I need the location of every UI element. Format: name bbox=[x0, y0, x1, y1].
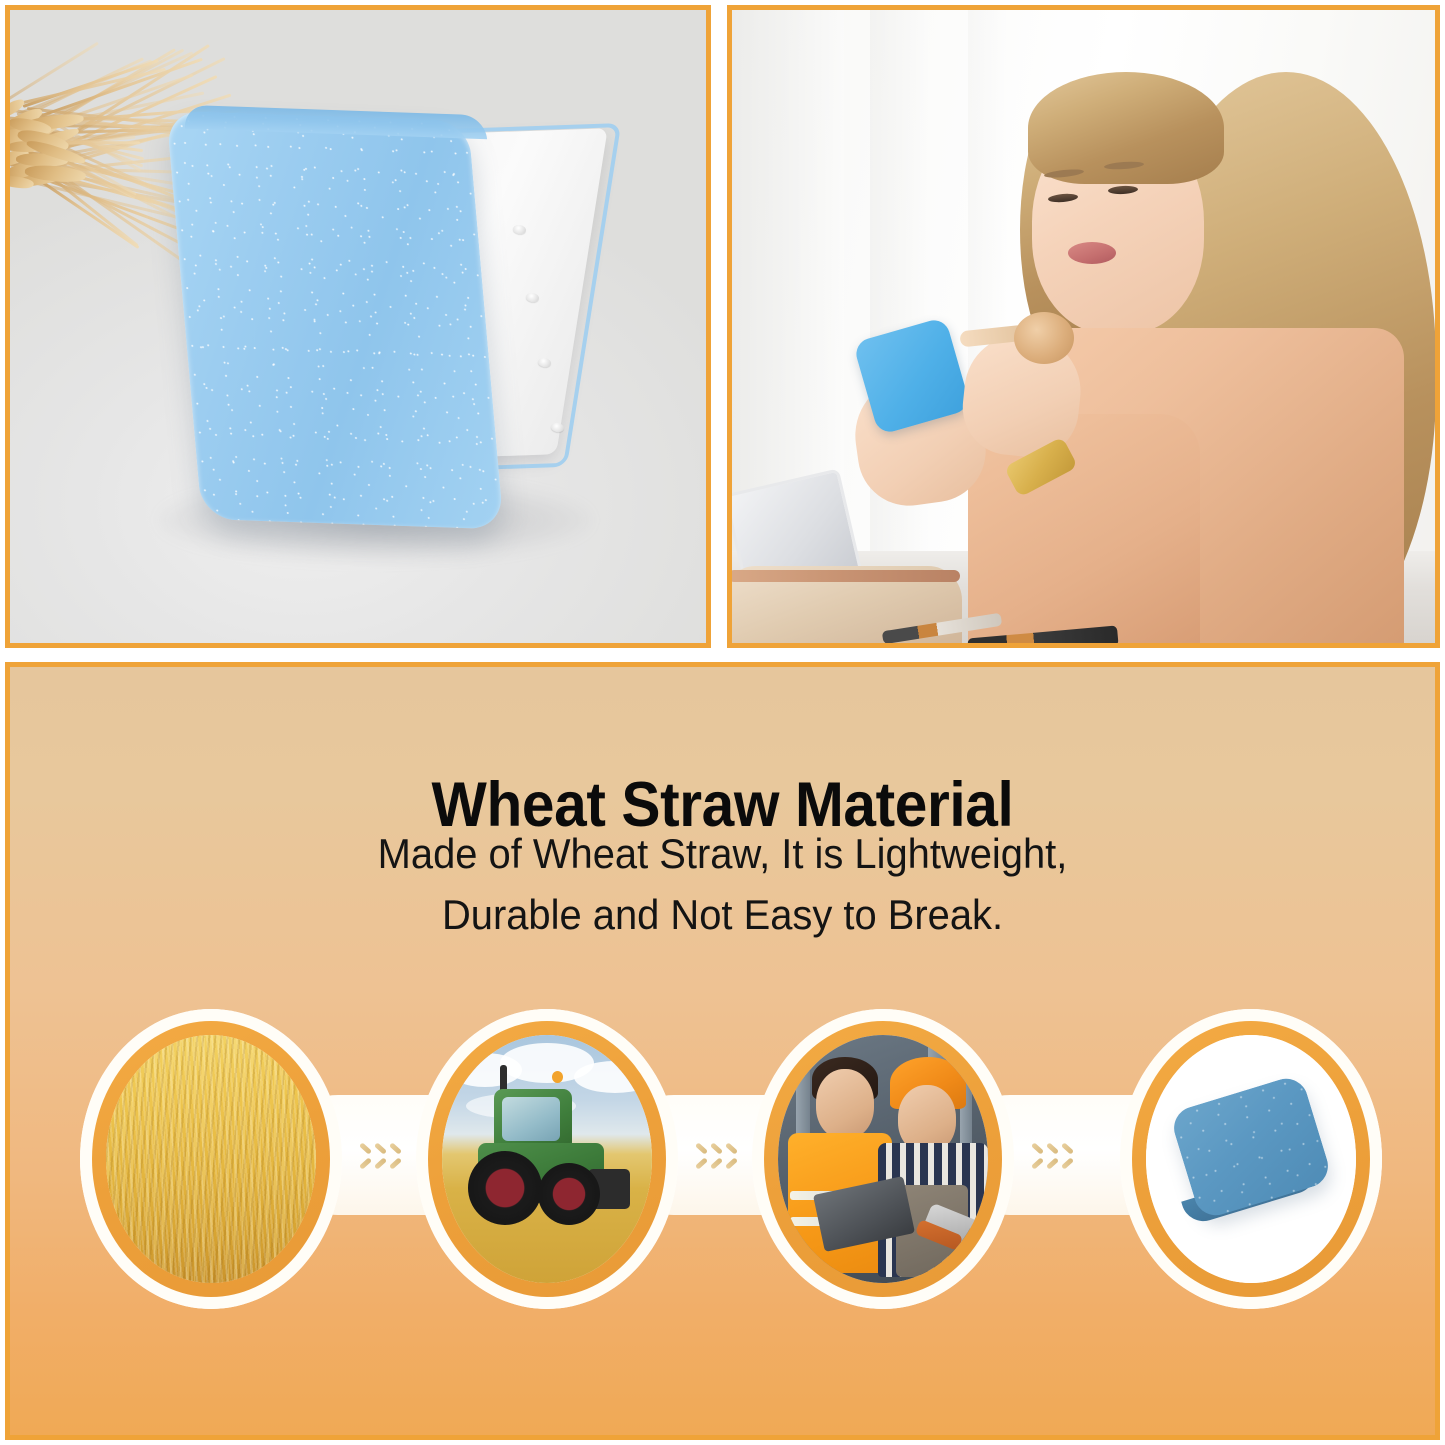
subtitle-line-2: Durable and Not Easy to Break. bbox=[46, 885, 1400, 946]
step-harvest bbox=[416, 1009, 678, 1309]
tractor-rear-wheel bbox=[468, 1151, 542, 1225]
infographic-canvas: Wheat Straw Material Made of Wheat Straw… bbox=[0, 0, 1445, 1445]
cloud-3 bbox=[574, 1061, 652, 1093]
node-photo bbox=[1146, 1035, 1356, 1283]
subtitle: Made of Wheat Straw, It is Lightweight, … bbox=[46, 824, 1400, 946]
triple-chevron-right-icon-2 bbox=[694, 1137, 740, 1177]
triple-chevron-right-icon-1 bbox=[358, 1137, 404, 1177]
tractor-beacon-light bbox=[552, 1071, 563, 1083]
node-photo bbox=[778, 1035, 988, 1283]
powder-puff bbox=[1014, 312, 1074, 364]
worker-a-head bbox=[816, 1069, 874, 1139]
engineers-factory-image bbox=[778, 1035, 988, 1283]
tractor-window bbox=[502, 1097, 560, 1141]
node-photo bbox=[442, 1035, 652, 1283]
node-photo bbox=[106, 1035, 316, 1283]
mirror-front-cover bbox=[166, 111, 504, 530]
step-product bbox=[1120, 1009, 1382, 1309]
subtitle-line-1: Made of Wheat Straw, It is Lightweight, bbox=[46, 824, 1400, 885]
wheat-field-image bbox=[106, 1035, 316, 1283]
tractor-front-wheel bbox=[538, 1163, 600, 1225]
step-manufacture bbox=[752, 1009, 1014, 1309]
product-hero-photo bbox=[5, 5, 711, 648]
lifestyle-photo bbox=[727, 5, 1440, 648]
step-wheat-field bbox=[80, 1009, 342, 1309]
info-panel: Wheat Straw Material Made of Wheat Straw… bbox=[5, 662, 1440, 1440]
process-flow bbox=[10, 999, 1435, 1319]
lips bbox=[1068, 242, 1116, 264]
triple-chevron-right-icon-3 bbox=[1030, 1137, 1076, 1177]
finished-product-image bbox=[1146, 1035, 1356, 1283]
makeup-bag-zipper bbox=[728, 570, 960, 582]
tractor-harvest-image bbox=[442, 1035, 652, 1283]
